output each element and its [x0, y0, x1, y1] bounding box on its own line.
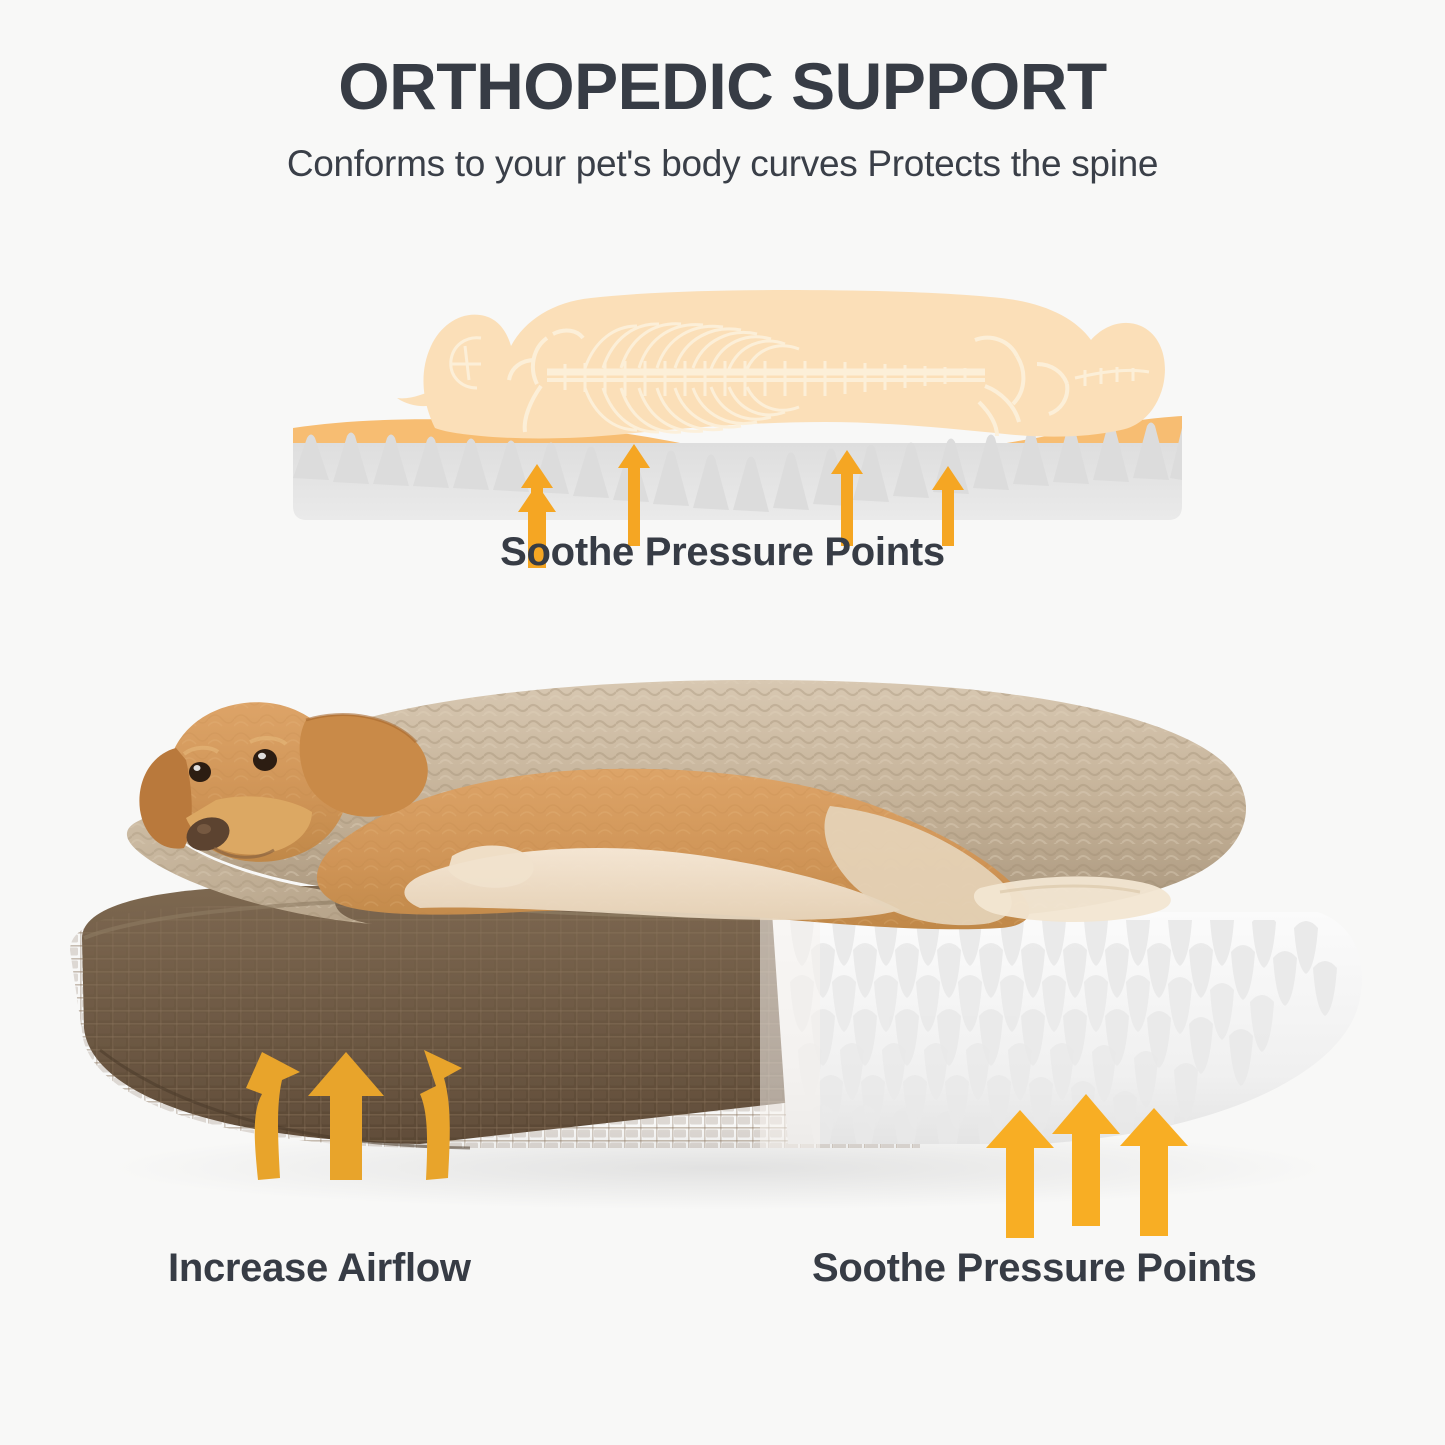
dog-silhouette	[397, 290, 1165, 438]
dog-eye-right	[253, 749, 277, 771]
caption-soothe-pressure-points: Soothe Pressure Points	[812, 1246, 1257, 1291]
dog-eye-left	[189, 762, 211, 782]
diagram-caption: Soothe Pressure Points	[0, 530, 1445, 575]
product-scene	[0, 620, 1445, 1260]
page-title: ORTHOPEDIC SUPPORT	[0, 52, 1445, 121]
page-subtitle: Conforms to your pet's body curves Prote…	[0, 143, 1445, 185]
header: ORTHOPEDIC SUPPORT Conforms to your pet'…	[0, 0, 1445, 185]
pressure-point-arrows	[986, 1094, 1188, 1238]
caption-increase-airflow: Increase Airflow	[168, 1246, 471, 1291]
